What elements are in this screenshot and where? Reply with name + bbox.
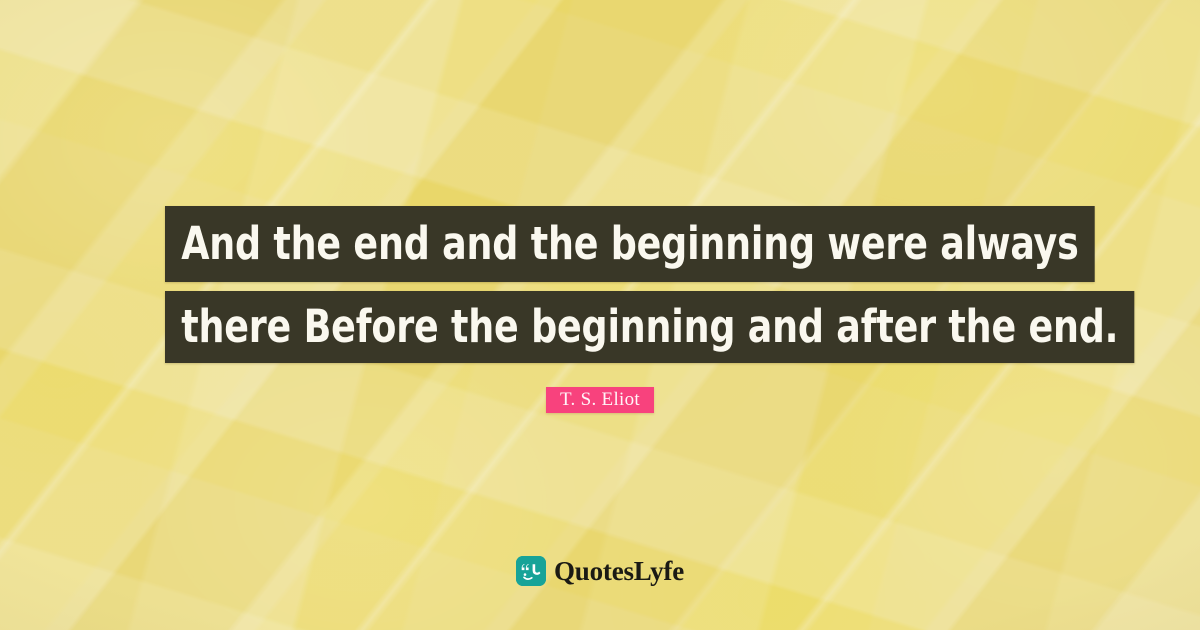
quote-line-2-wrapper: there Before the beginning and after the… — [0, 291, 1200, 363]
quote-line-2: there Before the beginning and after the… — [165, 291, 1135, 363]
quote-text-block: And the end and the beginning were alway… — [0, 206, 1200, 372]
quote-line-1: And the end and the beginning were alway… — [165, 206, 1095, 282]
author-attribution-row: T. S. Eliot — [0, 387, 1200, 413]
quote-smiley-icon — [516, 556, 546, 586]
brand-name-text: QuotesLyfe — [554, 556, 684, 586]
author-name-badge: T. S. Eliot — [546, 387, 654, 413]
quote-line-1-wrapper: And the end and the beginning were alway… — [0, 206, 1200, 282]
brand-footer: QuotesLyfe — [0, 556, 1200, 586]
quote-poster: And the end and the beginning were alway… — [0, 0, 1200, 630]
